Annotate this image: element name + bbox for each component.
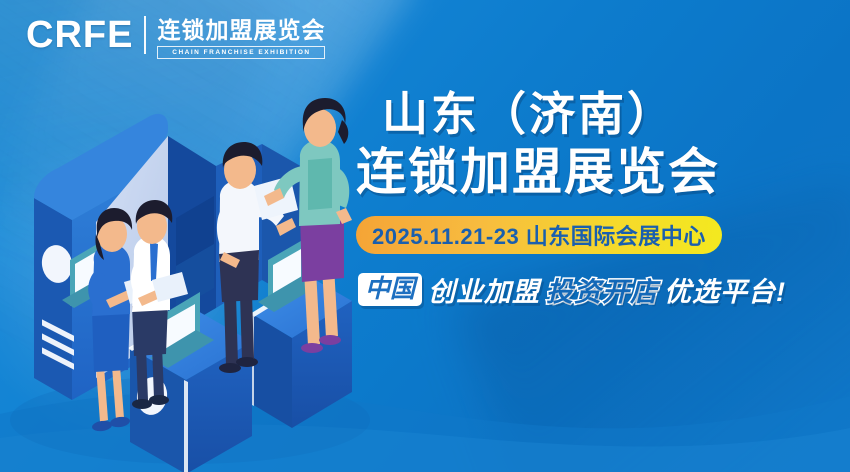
tagline-part-2: 优选平台! (664, 270, 786, 309)
headline-line-2: 连锁加盟展览会 (352, 142, 848, 202)
exhibition-illustration (0, 48, 392, 472)
crfe-logo: CRFE 连锁加盟展览会 CHAIN FRANCHISE EXHIBITION (26, 16, 325, 62)
date-venue-badge: 2025.11.21-23 山东国际会展中心 (356, 216, 722, 254)
exhibition-banner: CRFE 连锁加盟展览会 CHAIN FRANCHISE EXHIBITION (0, 0, 850, 472)
logo-english-name: CHAIN FRANCHISE EXHIBITION (157, 46, 325, 59)
headline-line-1: 山东（济南） (352, 86, 848, 142)
tagline-seal-china: 中国 (358, 273, 422, 306)
banner-content: 山东（济南） 连锁加盟展览会 2025.11.21-23 山东国际会展中心 中国… (352, 86, 848, 309)
logo-brand-text: CRFE (26, 16, 133, 54)
logo-text-group: 连锁加盟展览会 CHAIN FRANCHISE EXHIBITION (157, 16, 325, 59)
logo-chinese-name: 连锁加盟展览会 (157, 17, 325, 43)
tagline-part-1: 创业加盟 (428, 270, 540, 309)
logo-divider (144, 16, 146, 54)
tagline-row: 中国 创业加盟 投资开店 优选平台! (358, 270, 848, 309)
tagline-highlight: 投资开店 (546, 270, 658, 309)
